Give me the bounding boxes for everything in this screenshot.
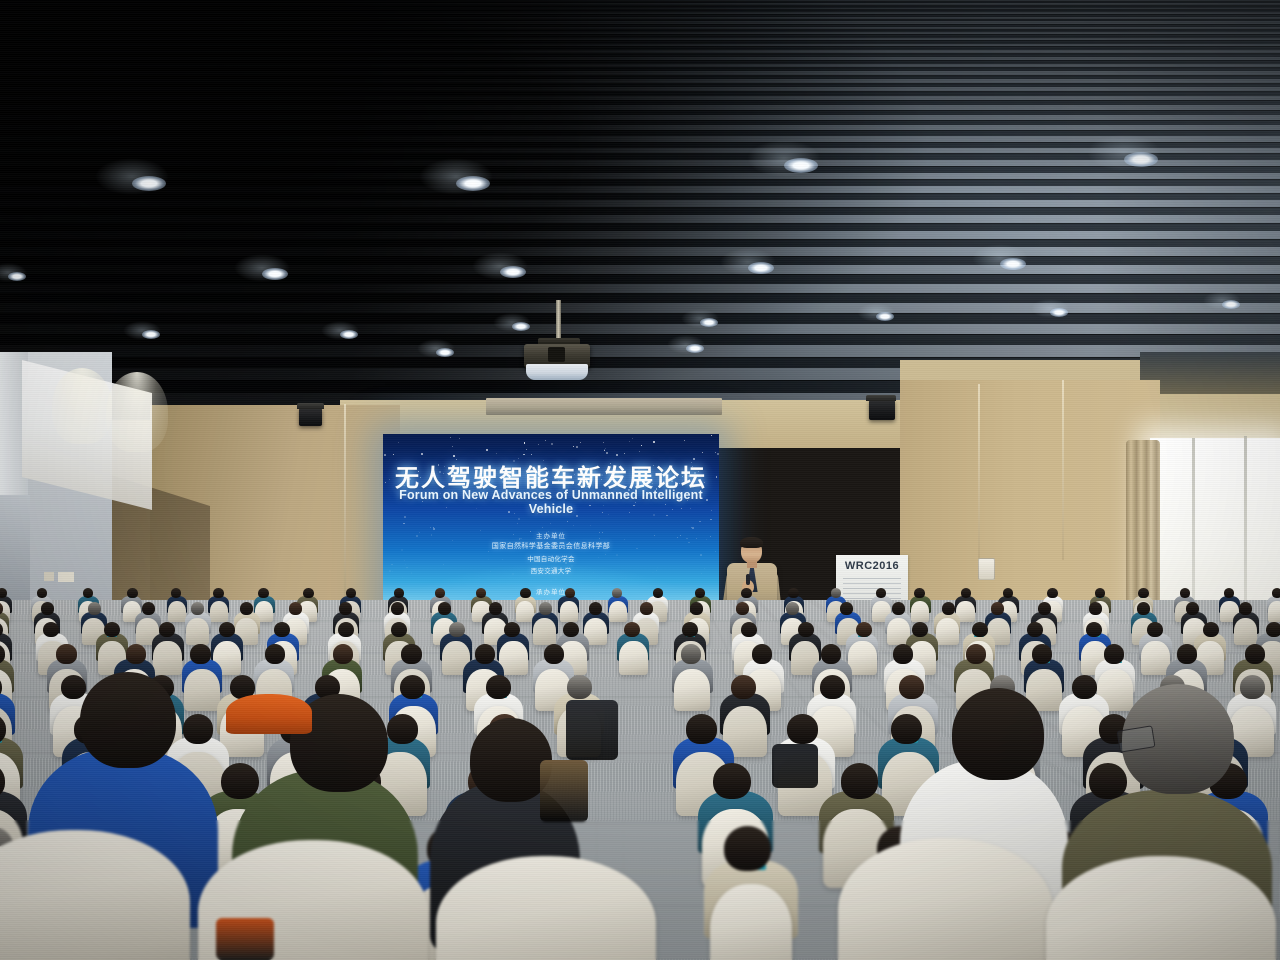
audience-person-head [476, 588, 486, 598]
audience-person-head [840, 602, 853, 615]
audience-person-head [258, 588, 268, 598]
audience-person-head [1086, 622, 1102, 638]
wrc-sign-label: WRC2016 [836, 560, 908, 572]
audience-person-head [1095, 588, 1105, 598]
audience-person-head [567, 675, 592, 699]
audience-person-head [1240, 675, 1265, 699]
wall-light-switch[interactable] [978, 558, 995, 580]
audience-person-head [731, 675, 756, 699]
audience-person-head [695, 588, 705, 598]
audience-person-head [991, 602, 1004, 615]
audience-person-head [104, 622, 120, 638]
audience-person-head [159, 622, 175, 638]
audience-person-head [219, 622, 235, 638]
audience-person-head [1137, 602, 1150, 615]
audience-person-head [289, 602, 302, 615]
wall-wash-light-2 [106, 372, 168, 452]
audience-person-head [893, 644, 913, 664]
audience-person-head [1245, 644, 1265, 664]
audience-chair [168, 601, 186, 623]
audience-person-head [966, 644, 986, 664]
foreground-orange-garment [226, 694, 312, 734]
audience-person-head [486, 675, 511, 699]
audience-person-head [1266, 622, 1280, 638]
audience-person-head [1003, 588, 1013, 598]
audience-person-head [37, 588, 47, 598]
wall-wash-light-1 [52, 368, 112, 444]
audience-person-head [565, 588, 575, 598]
wall-speaker-left [299, 408, 322, 426]
audience-person-head [438, 602, 451, 615]
audience-person-head [43, 622, 59, 638]
screen-organizer-heading: 主办单位 [383, 530, 719, 540]
audience-chair [936, 618, 959, 645]
audience-chair [619, 641, 648, 675]
audience-chair [186, 618, 209, 645]
audience-person-head [544, 644, 564, 664]
audience-person-head [539, 602, 552, 615]
audience-person-head [391, 622, 407, 638]
audience-person-head [400, 675, 425, 699]
audience-person-head [681, 644, 701, 664]
audience-person-head [1089, 763, 1127, 799]
screen-organizer-line-1: 国家自然科学基金委员会信息科学部 [383, 541, 719, 551]
audience-person-head [1104, 644, 1124, 664]
audience-person-head [190, 644, 210, 664]
audience-chair [153, 641, 182, 675]
audience-person-head [391, 602, 404, 615]
audience-person-head [1177, 644, 1197, 664]
wall-speaker-right [869, 400, 895, 420]
audience-person-head [1072, 675, 1097, 699]
presenter-hair [740, 537, 763, 548]
audience-person-head [1239, 602, 1252, 615]
audience-person-head [61, 675, 86, 699]
audience-person-head [741, 622, 757, 638]
audience-person-head [899, 675, 924, 699]
audience-person-head [41, 602, 54, 615]
audience-person-head [589, 602, 602, 615]
wall-plate-small-2 [58, 572, 74, 582]
projector-lens [526, 364, 588, 380]
screen-host-heading: 承办单位 [383, 586, 719, 596]
audience-person-head [475, 644, 495, 664]
audience-person-head [88, 602, 101, 615]
audience-person-head [333, 644, 353, 664]
audience-person-head [1180, 588, 1190, 598]
audience-person-head [912, 622, 928, 638]
audience-person-head [653, 588, 663, 598]
wall-seam-3 [1062, 380, 1064, 560]
wall-speaker-left-bracket [297, 403, 324, 409]
audience-person-head [401, 644, 421, 664]
foreground-head-blue-jacket [80, 672, 176, 768]
handheld-microphone [746, 574, 750, 585]
wall-speaker-right-bracket [866, 395, 896, 401]
audience-person-head [265, 644, 285, 664]
audience-person-head [489, 602, 502, 615]
audience-person-head [274, 622, 290, 638]
audience-person-head [1138, 588, 1148, 598]
audience-person-head [1186, 602, 1199, 615]
audience-person-head [612, 588, 622, 598]
audience-person-head [1027, 622, 1043, 638]
audience-person-head [788, 588, 798, 598]
audience-person-head [183, 714, 214, 744]
screen-soffit [486, 398, 722, 415]
audience-person-head [56, 644, 76, 664]
ceiling-edge-right [1140, 352, 1280, 394]
audience-person-head [126, 644, 146, 664]
audience-person-head [346, 588, 356, 598]
audience-person-head [1224, 588, 1234, 598]
audience-person-head [1089, 602, 1102, 615]
audience-person-head [1047, 588, 1057, 598]
audience-chair [674, 669, 710, 711]
audience-person-head [1038, 602, 1051, 615]
audience-chair [533, 618, 556, 645]
audience-person-head [394, 588, 404, 598]
audience-person-head [171, 588, 181, 598]
audience-person-head [449, 622, 465, 638]
floor-bag-brown [540, 760, 588, 822]
audience-person-head [682, 622, 698, 638]
audience-chair [609, 601, 627, 623]
audience-chair [911, 601, 929, 623]
audience-person-head [686, 714, 717, 744]
audience-person-head [786, 602, 799, 615]
audience-person-head [1147, 622, 1163, 638]
audience-person-head [942, 602, 955, 615]
audience-person-head [1203, 622, 1219, 638]
audience-person-head [892, 602, 905, 615]
audience-person-head [741, 588, 751, 598]
audience-chair [560, 601, 578, 623]
audience-person-head [961, 588, 971, 598]
audience-person-head [127, 588, 137, 598]
audience-person-head [339, 602, 352, 615]
audience-person-head [563, 622, 579, 638]
floor-bag-black [772, 744, 818, 788]
screen-organizer-line-3: 西安交通大学 [383, 565, 719, 575]
audience-person-head [798, 622, 814, 638]
audience-person-head [690, 602, 703, 615]
audience-person-head [821, 644, 841, 664]
audience-person-head [713, 763, 751, 799]
audience-person-head [752, 644, 772, 664]
floor-bag-orange [216, 918, 274, 960]
audience-person-head [520, 588, 530, 598]
audience-person-head [856, 622, 872, 638]
audience-chair [848, 641, 877, 675]
audience-person-head [142, 602, 155, 615]
floor-bag-dark [566, 700, 618, 760]
audience-person-head [1272, 588, 1280, 598]
wall-plate-small [44, 572, 54, 581]
audience-person-head [914, 588, 924, 598]
audience-person-head [876, 588, 886, 598]
audience-person-head [831, 588, 841, 598]
conference-hall-photo: 无人驾驶智能车新发展论坛 Forum on New Advances of Un… [0, 0, 1280, 960]
audience-chair [1234, 618, 1257, 645]
audience-person-head [724, 826, 771, 871]
audience-person-head [221, 763, 259, 799]
audience-chair [210, 601, 228, 623]
audience-person-head [504, 622, 520, 638]
projector-vent [548, 347, 565, 362]
foreground-head-white-shirt [952, 688, 1044, 780]
audience-person-head [303, 588, 313, 598]
audience-person-head [338, 622, 354, 638]
screen-organizer-line-2: 中国自动化学会 [383, 553, 719, 563]
audience-person-head [787, 714, 818, 744]
audience-person-head [240, 602, 253, 615]
audience-person-head [624, 622, 640, 638]
audience-person-head [972, 622, 988, 638]
audience-person-head [891, 714, 922, 744]
audience-person-head [435, 588, 445, 598]
audience-person-head [191, 602, 204, 615]
audience-chair [1268, 601, 1280, 623]
wall-seam-2 [978, 384, 980, 564]
audience-person-head [387, 714, 418, 744]
audience-person-head [640, 602, 653, 615]
audience-person-head [83, 588, 93, 598]
audience-chair [184, 669, 220, 711]
screen-title-english: Forum on New Advances of Unmanned Intell… [383, 488, 719, 516]
audience-person-head [820, 675, 845, 699]
audience-person-head [841, 763, 879, 799]
audience-person-head [736, 602, 749, 615]
audience-person-head [213, 588, 223, 598]
audience-person-head [1032, 644, 1052, 664]
wall-seam-1 [344, 404, 346, 604]
